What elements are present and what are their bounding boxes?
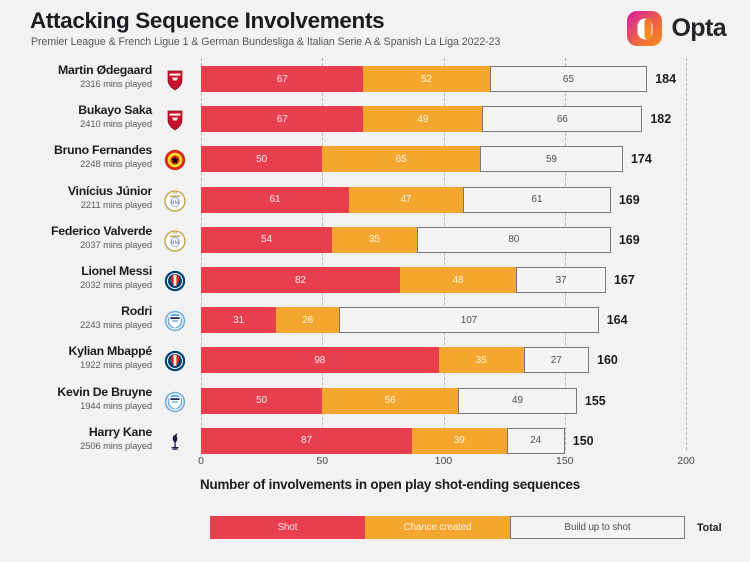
club-badge-icon: RM	[163, 229, 187, 253]
stacked-bar[interactable]: 674966	[201, 106, 642, 132]
club-badge-icon	[163, 349, 187, 373]
chart-row: Rodri2243 mins played 3126107164	[0, 304, 750, 344]
row-total: 169	[619, 187, 640, 213]
bar-segment-chance[interactable]: 26	[276, 307, 339, 333]
opta-logo: Opta	[627, 11, 726, 46]
club-badge-icon	[163, 148, 187, 172]
x-axis-tick: 200	[677, 455, 695, 467]
row-label: Rodri2243 mins played	[0, 304, 152, 331]
row-label: Lionel Messi2032 mins played	[0, 264, 152, 291]
club-badge-icon	[163, 68, 187, 92]
bar-segment-build[interactable]: 59	[480, 146, 623, 172]
bar-segment-chance[interactable]: 49	[363, 106, 482, 132]
player-minutes: 1922 mins played	[0, 359, 152, 371]
player-minutes: 2032 mins played	[0, 279, 152, 291]
bar-segment-chance[interactable]: 56	[322, 388, 458, 414]
bar-segment-build[interactable]: 49	[458, 388, 577, 414]
bar-segment-build[interactable]: 65	[490, 66, 648, 92]
club-badge-icon	[163, 309, 187, 333]
bar-segment-build[interactable]: 24	[507, 428, 565, 454]
bar-segment-chance[interactable]: 39	[412, 428, 507, 454]
club-badge-icon	[163, 390, 187, 414]
player-minutes: 2243 mins played	[0, 319, 152, 331]
bar-segment-build[interactable]: 61	[463, 187, 611, 213]
bar-segment-chance[interactable]: 65	[322, 146, 480, 172]
chart-legend: Shot Chance created Build up to shot Tot…	[0, 510, 750, 544]
row-label: Kylian Mbappé1922 mins played	[0, 344, 152, 371]
bar-segment-shot[interactable]: 67	[201, 106, 363, 132]
player-minutes: 2211 mins played	[0, 199, 152, 211]
stacked-bar[interactable]: 824837	[201, 267, 606, 293]
club-badge-icon	[163, 269, 187, 293]
row-total: 184	[655, 66, 676, 92]
chart-row: Bukayo Saka2410 mins played 674966182	[0, 103, 750, 143]
x-axis: Number of involvements in open play shot…	[0, 455, 750, 501]
bar-segment-shot[interactable]: 98	[201, 347, 439, 373]
player-name: Vinícius Júnior	[0, 184, 152, 199]
stacked-bar[interactable]: 983527	[201, 347, 589, 373]
player-name: Kylian Mbappé	[0, 344, 152, 359]
player-name: Bruno Fernandes	[0, 143, 152, 158]
player-minutes: 2316 mins played	[0, 78, 152, 90]
row-total: 174	[631, 146, 652, 172]
chart-row: Federico Valverde2037 mins played RM5435…	[0, 224, 750, 264]
player-name: Martin Ødegaard	[0, 63, 152, 78]
bar-segment-shot[interactable]: 54	[201, 227, 332, 253]
chart-row: Kevin De Bruyne1944 mins played 50564915…	[0, 385, 750, 425]
stacked-bar[interactable]: 614761	[201, 187, 611, 213]
stacked-bar[interactable]: 3126107	[201, 307, 599, 333]
player-minutes: 1944 mins played	[0, 400, 152, 412]
stacked-bar[interactable]: 543580	[201, 227, 611, 253]
chart-row: Kylian Mbappé1922 mins played 983527160	[0, 344, 750, 384]
bar-segment-shot[interactable]: 87	[201, 428, 412, 454]
row-total: 164	[607, 307, 628, 333]
legend-item-build[interactable]: Build up to shot	[510, 516, 685, 539]
chart-row: Lionel Messi2032 mins played 824837167	[0, 264, 750, 304]
player-name: Rodri	[0, 304, 152, 319]
row-total: 155	[585, 388, 606, 414]
x-axis-title: Number of involvements in open play shot…	[0, 477, 750, 492]
row-label: Martin Ødegaard2316 mins played	[0, 63, 152, 90]
chart-row: Vinícius Júnior2211 mins played RM614761…	[0, 184, 750, 224]
player-minutes: 2248 mins played	[0, 158, 152, 170]
bar-segment-chance[interactable]: 52	[363, 66, 489, 92]
row-total: 167	[614, 267, 635, 293]
page-title: Attacking Sequence Involvements	[30, 8, 384, 34]
player-name: Federico Valverde	[0, 224, 152, 239]
stacked-bar[interactable]: 506559	[201, 146, 623, 172]
opta-logo-text: Opta	[671, 14, 726, 43]
chart-plot-area: Martin Ødegaard2316 mins played 67526518…	[0, 58, 750, 458]
opta-logo-icon	[627, 11, 662, 46]
x-axis-tick: 0	[198, 455, 204, 467]
player-name: Harry Kane	[0, 425, 152, 440]
stacked-bar[interactable]: 505649	[201, 388, 577, 414]
row-label: Bruno Fernandes2248 mins played	[0, 143, 152, 170]
bar-segment-shot[interactable]: 67	[201, 66, 363, 92]
x-axis-tick: 50	[316, 455, 328, 467]
bar-segment-shot[interactable]: 61	[201, 187, 349, 213]
x-axis-tick: 150	[556, 455, 574, 467]
player-minutes: 2506 mins played	[0, 440, 152, 452]
chart-header: Attacking Sequence Involvements Premier …	[0, 0, 750, 58]
player-minutes: 2037 mins played	[0, 239, 152, 251]
x-axis-tick: 100	[435, 455, 453, 467]
row-label: Bukayo Saka2410 mins played	[0, 103, 152, 130]
club-badge-icon	[163, 108, 187, 132]
svg-text:RM: RM	[171, 241, 179, 246]
row-total: 160	[597, 347, 618, 373]
bar-segment-build[interactable]: 107	[339, 307, 598, 333]
bar-segment-shot[interactable]: 82	[201, 267, 400, 293]
bar-segment-build[interactable]: 80	[417, 227, 611, 253]
bar-segment-chance[interactable]: 47	[349, 187, 463, 213]
player-minutes: 2410 mins played	[0, 118, 152, 130]
bar-segment-chance[interactable]: 35	[439, 347, 524, 373]
row-label: Kevin De Bruyne1944 mins played	[0, 385, 152, 412]
bar-segment-shot[interactable]: 50	[201, 146, 322, 172]
row-label: Harry Kane2506 mins played	[0, 425, 152, 452]
row-total: 169	[619, 227, 640, 253]
row-label: Federico Valverde2037 mins played	[0, 224, 152, 251]
legend-item-chance[interactable]: Chance created	[365, 516, 510, 539]
row-total: 182	[650, 106, 671, 132]
legend-total-label: Total	[697, 516, 722, 539]
bar-segment-build[interactable]: 37	[516, 267, 606, 293]
bar-segment-build[interactable]: 27	[524, 347, 589, 373]
player-name: Lionel Messi	[0, 264, 152, 279]
row-total: 150	[573, 428, 594, 454]
stacked-bar[interactable]: 873924	[201, 428, 565, 454]
chart-row: Bruno Fernandes2248 mins played 50655917…	[0, 143, 750, 183]
row-label: Vinícius Júnior2211 mins played	[0, 184, 152, 211]
stacked-bar[interactable]: 675265	[201, 66, 647, 92]
player-name: Kevin De Bruyne	[0, 385, 152, 400]
legend-track: Shot Chance created Build up to shot	[210, 516, 685, 539]
club-badge-icon	[163, 430, 187, 454]
legend-item-shot[interactable]: Shot	[210, 516, 365, 539]
chart-subtitle: Premier League & French Ligue 1 & German…	[31, 36, 500, 48]
player-name: Bukayo Saka	[0, 103, 152, 118]
bar-segment-chance[interactable]: 35	[332, 227, 417, 253]
chart-row: Martin Ødegaard2316 mins played 67526518…	[0, 63, 750, 103]
bar-segment-shot[interactable]: 31	[201, 307, 276, 333]
bar-segment-shot[interactable]: 50	[201, 388, 322, 414]
bar-segment-chance[interactable]: 48	[400, 267, 516, 293]
svg-text:RM: RM	[171, 201, 179, 206]
club-badge-icon: RM	[163, 189, 187, 213]
bar-segment-build[interactable]: 66	[482, 106, 642, 132]
